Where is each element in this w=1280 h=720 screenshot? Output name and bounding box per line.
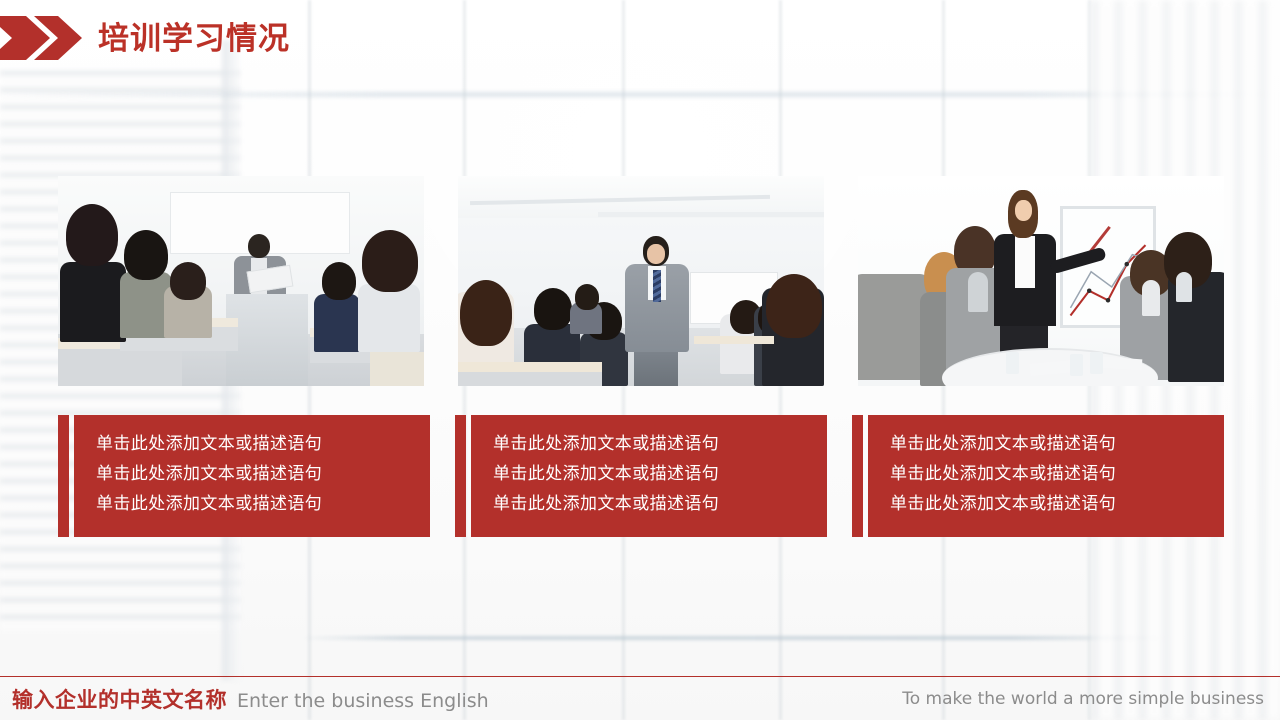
photo-instructor-walking[interactable] xyxy=(458,176,824,386)
caption-line: 单击此处添加文本或描述语句 xyxy=(890,429,1224,459)
photo3-glass xyxy=(1070,354,1083,376)
photo2-desk xyxy=(694,336,774,344)
photo3-glass xyxy=(1090,352,1103,374)
caption-accent-bar xyxy=(455,415,466,537)
photo1-lecturer-head xyxy=(248,234,270,258)
footer-company: 输入企业的中英文名称 Enter the business English xyxy=(0,684,489,714)
photo-meeting-presentation[interactable] xyxy=(858,176,1224,386)
caption-line: 单击此处添加文本或描述语句 xyxy=(96,429,430,459)
photo1-student-head xyxy=(170,262,206,300)
caption-accent-bar xyxy=(58,415,69,537)
photo3-presenter-face xyxy=(1015,200,1032,221)
photo3-attendee-shirt xyxy=(1142,280,1160,316)
photo2-desk xyxy=(458,362,602,372)
photo-classroom-lecture[interactable] xyxy=(58,176,424,386)
caption-block-1[interactable]: 单击此处添加文本或描述语句 单击此处添加文本或描述语句 单击此处添加文本或描述语… xyxy=(58,415,430,537)
caption-line: 单击此处添加文本或描述语句 xyxy=(493,429,827,459)
footer-company-cn: 输入企业的中英文名称 xyxy=(12,684,227,714)
photo1-student-head xyxy=(362,230,418,292)
caption-line: 单击此处添加文本或描述语句 xyxy=(96,459,430,489)
photo1-student xyxy=(314,294,360,352)
caption-line: 单击此处添加文本或描述语句 xyxy=(493,489,827,519)
caption-block-3[interactable]: 单击此处添加文本或描述语句 单击此处添加文本或描述语句 单击此处添加文本或描述语… xyxy=(852,415,1224,537)
photo3-presenter-shirt xyxy=(1015,236,1035,288)
caption-body[interactable]: 单击此处添加文本或描述语句 单击此处添加文本或描述语句 单击此处添加文本或描述语… xyxy=(471,415,827,537)
footer-company-en: Enter the business English xyxy=(237,690,489,712)
slide-canvas: 培训学习情况 xyxy=(0,0,1280,720)
photo2-instructor-legs xyxy=(634,348,678,386)
caption-line: 单击此处添加文本或描述语句 xyxy=(493,459,827,489)
caption-line: 单击此处添加文本或描述语句 xyxy=(96,489,430,519)
photo1-podium xyxy=(226,294,308,386)
photo2-student-head xyxy=(460,280,512,346)
slide-footer: 输入企业的中英文名称 Enter the business English To… xyxy=(0,677,1280,720)
photo2-student-head xyxy=(766,274,822,338)
caption-line: 单击此处添加文本或描述语句 xyxy=(890,459,1224,489)
caption-body[interactable]: 单击此处添加文本或描述语句 单击此处添加文本或描述语句 单击此处添加文本或描述语… xyxy=(868,415,1224,537)
footer-tagline: To make the world a more simple business xyxy=(902,689,1280,709)
photo1-student-head xyxy=(66,204,118,266)
photo1-desk xyxy=(370,352,424,386)
photo1-student-head xyxy=(322,262,356,300)
page-title: 培训学习情况 xyxy=(98,23,290,54)
caption-line: 单击此处添加文本或描述语句 xyxy=(890,489,1224,519)
background-horizontal-line-upper xyxy=(0,92,1280,97)
photo-row xyxy=(58,176,1224,386)
photo2-instructor-tie xyxy=(653,270,661,302)
photo2-student-head xyxy=(534,288,572,330)
background-horizontal-line xyxy=(300,636,1170,640)
photo2-student-head xyxy=(575,284,599,310)
photo1-student-head xyxy=(124,230,168,280)
caption-accent-bar xyxy=(852,415,863,537)
caption-body[interactable]: 单击此处添加文本或描述语句 单击此处添加文本或描述语句 单击此处添加文本或描述语… xyxy=(74,415,430,537)
photo1-desk xyxy=(58,349,182,386)
double-chevron-right-icon xyxy=(0,14,84,62)
photo3-glass xyxy=(1006,352,1019,374)
caption-block-2[interactable]: 单击此处添加文本或描述语句 单击此处添加文本或描述语句 单击此处添加文本或描述语… xyxy=(455,415,827,537)
photo2-desk xyxy=(458,372,602,386)
photo1-student xyxy=(358,284,420,352)
photo3-attendee-shirt xyxy=(1176,272,1192,302)
photo1-student xyxy=(60,262,126,342)
photo2-instructor-face xyxy=(647,244,665,264)
photo3-attendee-shirt xyxy=(968,272,988,312)
caption-row: 单击此处添加文本或描述语句 单击此处添加文本或描述语句 单击此处添加文本或描述语… xyxy=(58,415,1224,537)
slide-header: 培训学习情况 xyxy=(0,12,290,64)
photo2-ceiling-light xyxy=(598,212,824,217)
